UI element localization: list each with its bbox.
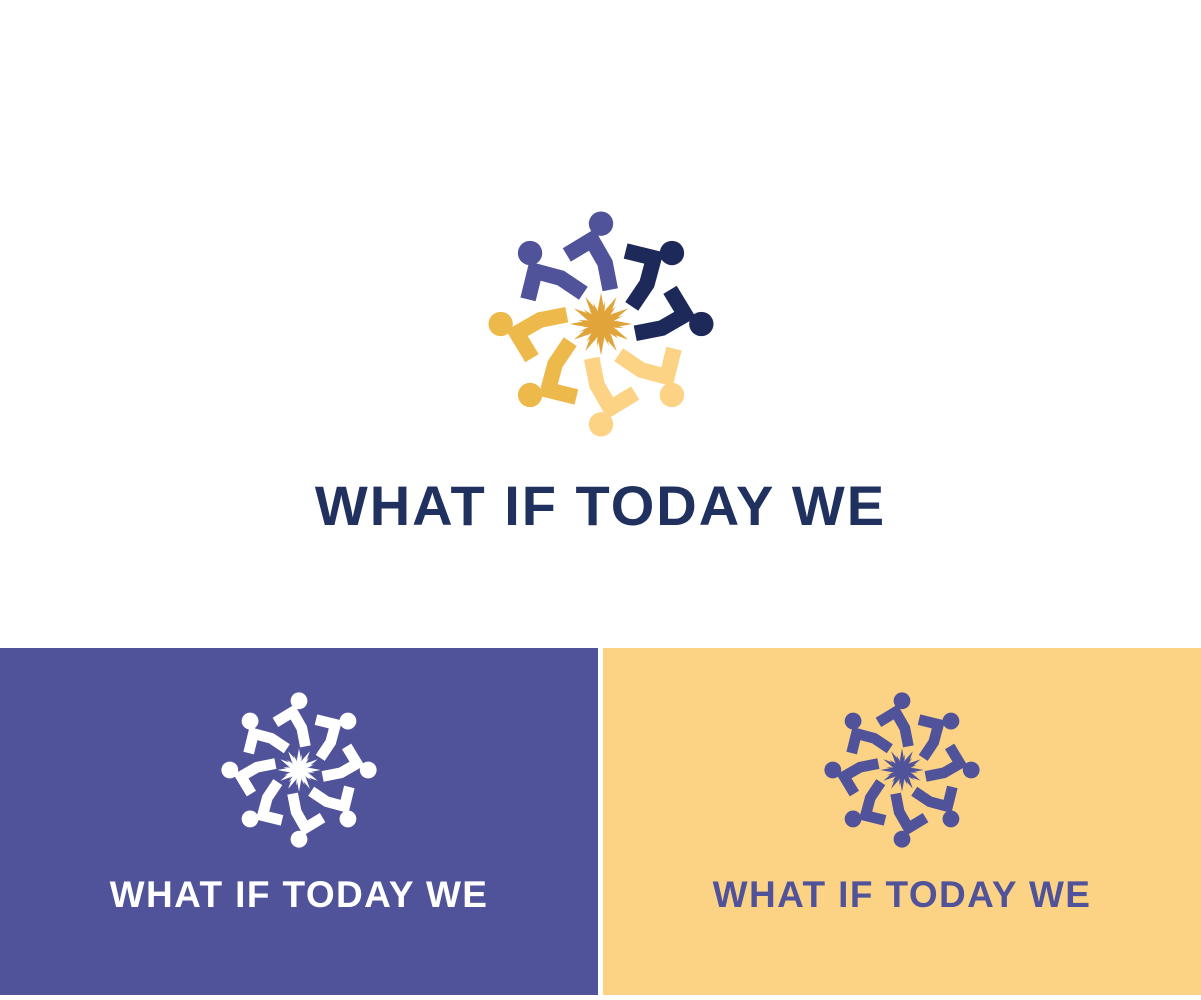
center-sunburst-icon <box>569 293 632 356</box>
alt-wordmark-purple: WHAT IF TODAY WE <box>713 876 1092 913</box>
sunburst-rays <box>880 748 923 791</box>
alt-panel-purple: WHAT IF TODAY WE <box>0 648 598 995</box>
primary-logo-panel: WHAT IF TODAY WE <box>0 0 1201 648</box>
center-sunburst-icon <box>277 748 320 791</box>
pinwheel-people-sunburst-icon-purple <box>822 690 982 850</box>
sunburst-rays <box>277 748 320 791</box>
logo-presentation-board: WHAT IF TODAY WE WHAT IF TODAY WE WHAT I… <box>0 0 1201 1000</box>
alt-logo-mark-white <box>219 690 379 850</box>
primary-logo-mark <box>485 208 717 440</box>
alt-logo-mark-purple <box>822 690 982 850</box>
board-bottom-margin <box>0 995 1201 1000</box>
pinwheel-people-sunburst-icon <box>485 208 717 440</box>
primary-wordmark: WHAT IF TODAY WE <box>315 478 886 534</box>
pinwheel-people-sunburst-icon-white <box>219 690 379 850</box>
alt-wordmark-white: WHAT IF TODAY WE <box>110 876 489 913</box>
alternate-logo-panels: WHAT IF TODAY WE WHAT IF TODAY WE <box>0 648 1201 995</box>
alt-panel-gold: WHAT IF TODAY WE <box>603 648 1201 995</box>
center-sunburst-icon <box>880 748 923 791</box>
sunburst-rays <box>569 293 632 356</box>
